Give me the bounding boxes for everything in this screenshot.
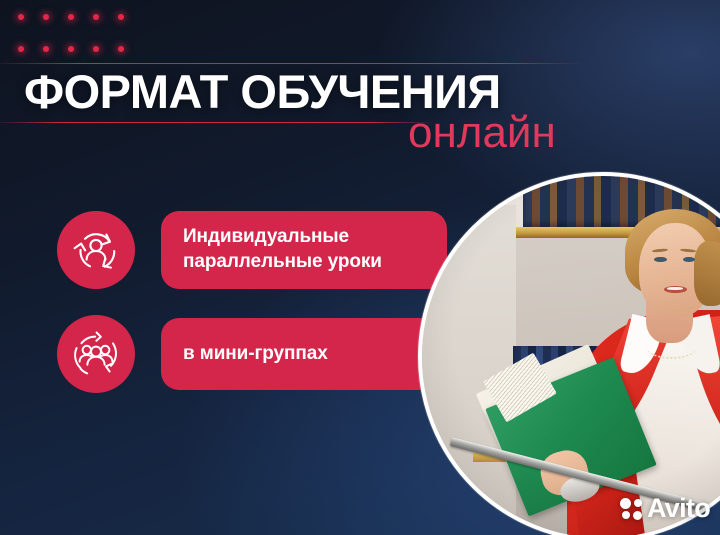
teacher-portrait-photo xyxy=(418,172,720,535)
feature-label: в мини-группах xyxy=(183,341,328,366)
dot-grid-dot xyxy=(93,14,99,20)
feature-pill-minigroup: в мини-группах xyxy=(161,318,447,390)
avito-dot xyxy=(634,499,642,507)
poster-canvas: ФОРМАТ ОБУЧЕНИЯ онлайн xyxy=(0,0,720,535)
avito-dot xyxy=(620,498,631,509)
headline-block: ФОРМАТ ОБУЧЕНИЯ xyxy=(24,64,694,120)
dot-grid-dot xyxy=(43,46,49,52)
dot-grid-dot xyxy=(118,46,124,52)
feature-pill-individual: Индивидуальные параллельные уроки xyxy=(161,211,447,289)
avito-brand-label: Avito xyxy=(647,495,710,522)
dot-grid-dot xyxy=(118,14,124,20)
dot-grid-dot xyxy=(18,46,24,52)
dot-grid-dot xyxy=(68,14,74,20)
list-item: в мини-группах xyxy=(57,315,477,393)
avito-dot xyxy=(633,511,642,520)
accent-rule-middle xyxy=(0,122,432,123)
avito-watermark: Avito xyxy=(620,495,710,522)
list-item: Индивидуальные параллельные уроки xyxy=(57,211,477,289)
photo-vignette xyxy=(422,176,720,535)
dot-grid-dot xyxy=(18,14,24,20)
feature-label: Индивидуальные параллельные уроки xyxy=(183,224,382,274)
dot-grid-dot xyxy=(68,46,74,52)
avito-dots-icon xyxy=(620,498,642,520)
person-refresh-icon xyxy=(57,211,135,289)
dot-grid-dot xyxy=(43,14,49,20)
group-refresh-icon xyxy=(57,315,135,393)
page-subtitle: онлайн xyxy=(408,108,556,158)
feature-list: Индивидуальные параллельные уроки xyxy=(57,211,477,419)
dot-grid-dot xyxy=(93,46,99,52)
avito-dot xyxy=(622,511,630,519)
page-title: ФОРМАТ ОБУЧЕНИЯ xyxy=(24,64,694,120)
